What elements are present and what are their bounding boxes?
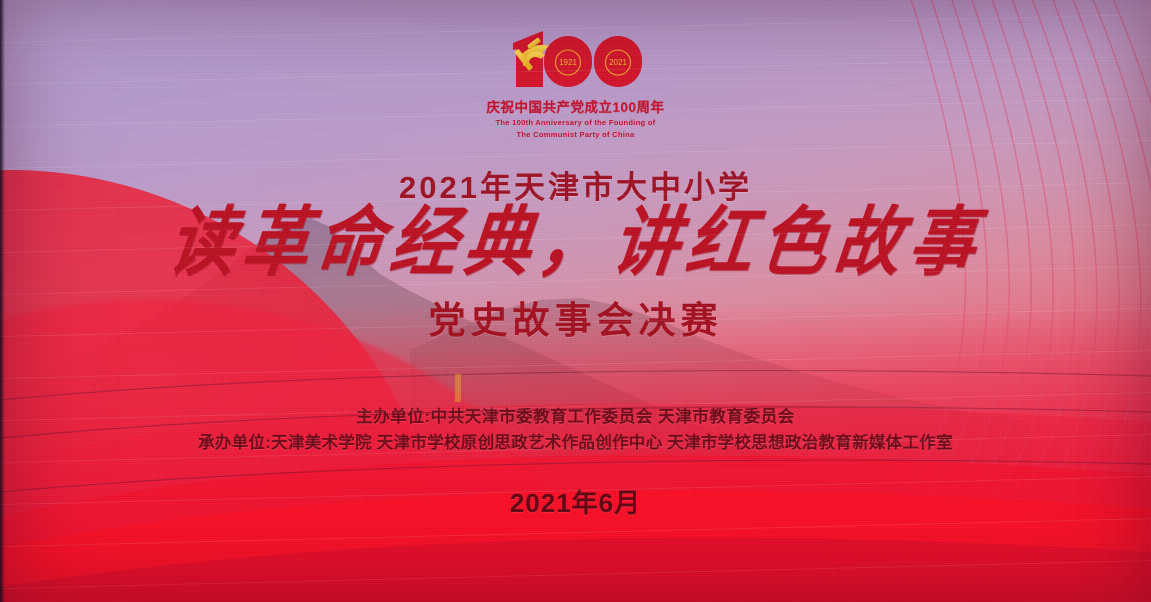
logo-caption-chinese: 庆祝中国共产党成立100周年 — [487, 96, 665, 116]
event-subtitle-year-scope: 2021年天津市大中小学 — [399, 162, 752, 207]
logo-year-start: 1921 — [559, 58, 577, 67]
logo-100-mark: 1921 2021 — [501, 22, 651, 94]
event-main-title-calligraphy: 读革命经典，讲红色故事 — [164, 204, 988, 283]
event-backdrop-screen: 1921 2021 庆祝中国共产党成立100周年 The 100th Anniv… — [0, 0, 1151, 602]
host-organization-line: 主办单位:中共天津市委教育工作委员会 天津市教育委员会 — [0, 405, 1151, 431]
cpc-centenary-logo: 1921 2021 庆祝中国共产党成立100周年 The 100th Anniv… — [487, 22, 665, 140]
event-title-final-round: 党史故事会决赛 — [429, 290, 723, 344]
co-organizer-line: 承办单位:天津美术学院 天津市学校原创思政艺术作品创作中心 天津市学校思想政治教… — [0, 431, 1151, 457]
logo-caption-english-line1: The 100th Anniversary of the Founding of — [487, 118, 665, 128]
event-date: 2021年6月 — [0, 483, 1151, 520]
logo-year-end: 2021 — [609, 58, 627, 67]
left-edge-shadow — [0, 0, 5, 602]
credits-block: 主办单位:中共天津市委教育工作委员会 天津市教育委员会 承办单位:天津美术学院 … — [0, 405, 1151, 456]
logo-caption-english-line2: The Communist Party of China — [487, 130, 665, 140]
